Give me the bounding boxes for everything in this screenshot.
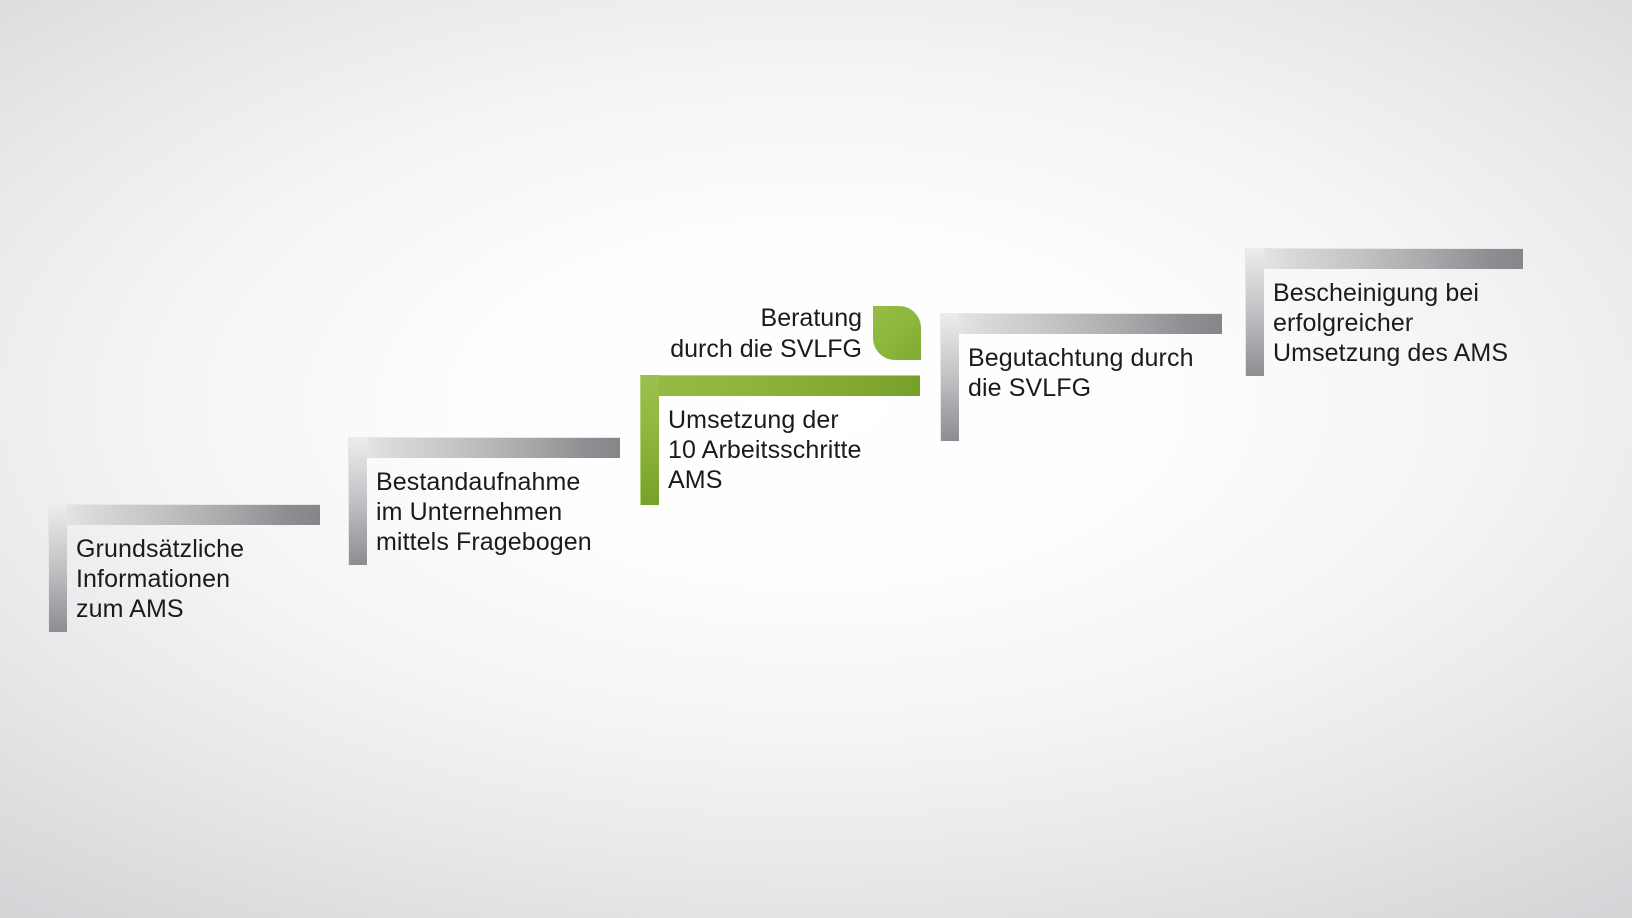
step-4-top-bar bbox=[940, 313, 1222, 334]
step-2-top-bar bbox=[348, 437, 620, 458]
step-4-label: Begutachtung durch die SVLFG bbox=[968, 343, 1238, 403]
step-5-top-bar bbox=[1245, 248, 1523, 269]
step-5[interactable]: Bescheinigung bei erfolgreicher Umsetzun… bbox=[1245, 248, 1523, 396]
step-5-left-leg bbox=[1245, 248, 1264, 376]
step-4[interactable]: Begutachtung durch die SVLFG bbox=[940, 313, 1222, 461]
step-2[interactable]: Bestandaufnahme im Unternehmen mittels F… bbox=[348, 437, 620, 585]
diagram-canvas: Grundsätzliche Informationen zum AMS Bes… bbox=[0, 0, 1632, 918]
step-2-left-leg bbox=[348, 437, 367, 565]
caption-beratung-durch-die-svlfg: Beratung durch die SVLFG bbox=[600, 303, 862, 365]
step-3[interactable]: Umsetzung der 10 Arbeitsschritte AMS bbox=[640, 375, 920, 525]
step-1[interactable]: Grundsätzliche Informationen zum AMS bbox=[48, 504, 320, 652]
step-1-left-leg bbox=[48, 504, 67, 632]
step-1-top-bar bbox=[48, 504, 320, 525]
step-1-label: Grundsätzliche Informationen zum AMS bbox=[76, 534, 336, 624]
leaf-icon bbox=[873, 306, 921, 360]
step-5-label: Bescheinigung bei erfolgreicher Umsetzun… bbox=[1273, 278, 1553, 368]
step-3-label: Umsetzung der 10 Arbeitsschritte AMS bbox=[668, 405, 938, 495]
step-2-label: Bestandaufnahme im Unternehmen mittels F… bbox=[376, 467, 646, 557]
step-3-left-leg bbox=[640, 375, 659, 505]
step-3-top-bar bbox=[640, 375, 920, 396]
step-4-left-leg bbox=[940, 313, 959, 441]
